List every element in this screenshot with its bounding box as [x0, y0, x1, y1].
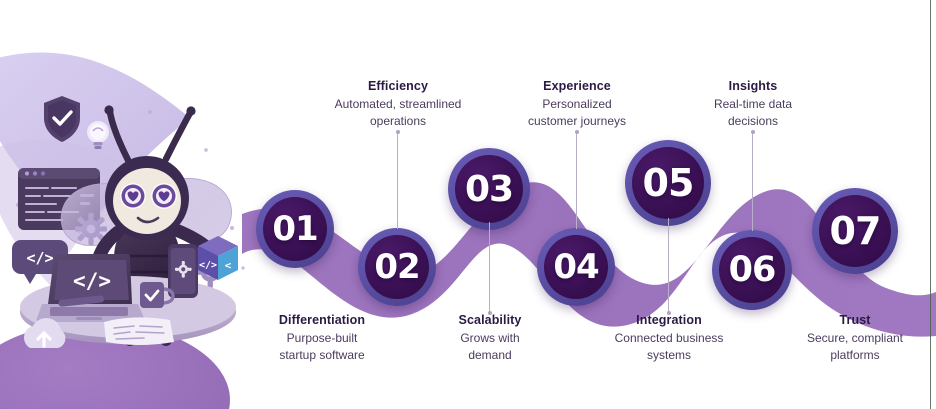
- step-circle-06[interactable]: 06: [712, 230, 792, 310]
- step-label-03: Scalability Grows with demand: [419, 312, 561, 363]
- step-label-05: Integration Connected business systems: [578, 312, 760, 363]
- step-desc-line-1: Connected business: [578, 330, 760, 347]
- step-desc-line-2: startup software: [232, 347, 412, 364]
- antennae: [110, 112, 190, 160]
- step-desc-line-1: Grows with: [419, 330, 561, 347]
- step-label-01: Differentiation Purpose-built startup so…: [232, 312, 412, 363]
- mascot-head: [105, 156, 189, 240]
- step-desc-line-2: decisions: [678, 113, 828, 130]
- step-desc-line-2: customer journeys: [487, 113, 667, 130]
- step-label-07: Trust Secure, compliant platforms: [775, 312, 935, 363]
- connector-stem-05: [668, 218, 669, 314]
- svg-text:</>: </>: [26, 249, 53, 267]
- step-title: Efficiency: [305, 78, 491, 94]
- step-circle-01[interactable]: 01: [256, 190, 334, 268]
- step-desc-line-1: Automated, streamlined: [305, 96, 491, 113]
- step-number: 02: [374, 247, 419, 287]
- step-number: 05: [643, 161, 694, 205]
- step-title: Experience: [487, 78, 667, 94]
- step-desc-line-1: Purpose-built: [232, 330, 412, 347]
- step-desc-line-1: Secure, compliant: [775, 330, 935, 347]
- step-title: Scalability: [419, 312, 561, 328]
- step-title: Differentiation: [232, 312, 412, 328]
- svg-text:<: <: [225, 259, 232, 272]
- step-label-04: Experience Personalized customer journey…: [487, 78, 667, 129]
- step-desc-line-1: Personalized: [487, 96, 667, 113]
- step-title: Insights: [678, 78, 828, 94]
- connector-stem-06: [752, 131, 753, 231]
- step-number: 04: [553, 247, 598, 287]
- shield-check-icon: [44, 96, 80, 142]
- lightbulb-icon: [87, 121, 109, 149]
- connector-stem-03: [489, 222, 490, 314]
- step-circle-04[interactable]: 04: [537, 228, 615, 306]
- step-title: Integration: [578, 312, 760, 328]
- right-edge-rule: [930, 0, 931, 409]
- step-desc-line-2: operations: [305, 113, 491, 130]
- step-label-06: Insights Real-time data decisions: [678, 78, 828, 129]
- step-circle-03[interactable]: 03: [448, 148, 530, 230]
- step-title: Trust: [775, 312, 935, 328]
- step-desc-line-1: Real-time data: [678, 96, 828, 113]
- smartphone-gear: [168, 244, 198, 298]
- step-number: 06: [729, 250, 776, 290]
- step-number: 01: [272, 209, 317, 249]
- infographic-canvas: </>: [0, 0, 936, 409]
- step-number: 03: [465, 169, 513, 210]
- connector-stem-04: [576, 131, 577, 229]
- step-circle-07[interactable]: 07: [812, 188, 898, 274]
- step-circle-05[interactable]: 05: [625, 140, 711, 226]
- bee-mascot-developer-scene: </>: [0, 0, 250, 409]
- step-desc-line-2: demand: [419, 347, 561, 364]
- step-desc-line-2: systems: [578, 347, 760, 364]
- svg-text:</>: </>: [73, 269, 111, 293]
- document-page: [104, 317, 174, 345]
- connector-stem-02: [397, 131, 398, 229]
- step-number: 07: [830, 209, 881, 253]
- step-desc-line-2: platforms: [775, 347, 935, 364]
- step-label-02: Efficiency Automated, streamlined operat…: [305, 78, 491, 129]
- svg-text:</>: </>: [199, 260, 217, 271]
- step-circle-02[interactable]: 02: [358, 228, 436, 306]
